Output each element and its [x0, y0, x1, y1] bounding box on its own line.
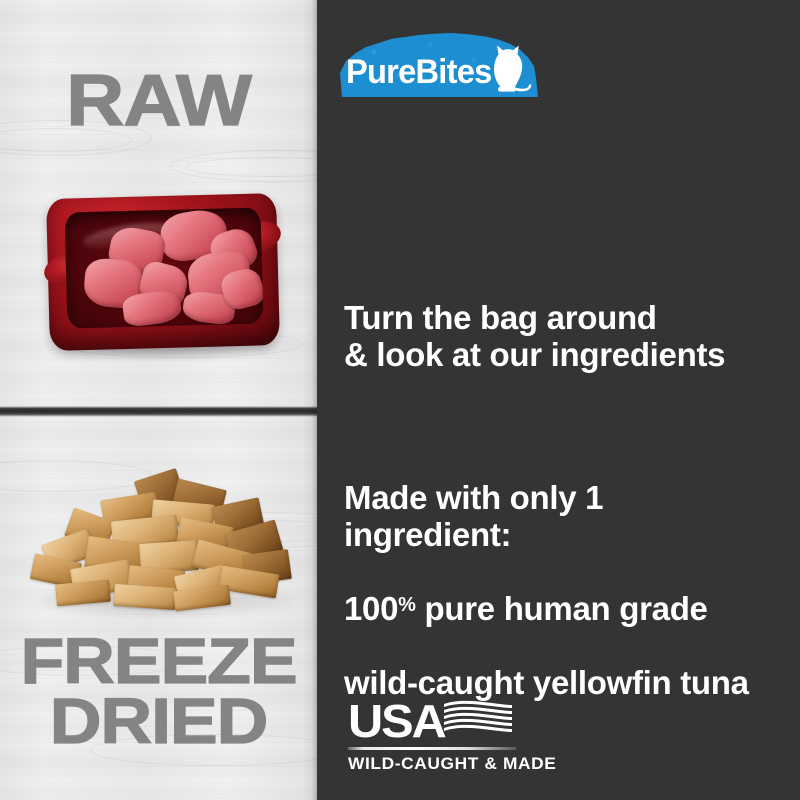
percent-value: 100	[344, 590, 398, 627]
raw-label: RAW	[0, 68, 336, 135]
product-infographic: RAW	[0, 0, 800, 800]
usa-title: USA	[348, 698, 445, 744]
usa-badge: USA WILD-CAUGHT & MADE	[348, 698, 548, 772]
freeze-label-line2: DRIED	[0, 692, 336, 752]
purebites-logo[interactable]: PureBites	[338, 33, 538, 97]
dish-interior	[65, 207, 264, 328]
percent-sign: %	[398, 594, 415, 616]
american-flag-icon	[442, 700, 514, 738]
freeze-dried-label: FREEZE DRIED	[0, 632, 336, 751]
raw-tuna-dish-image	[38, 186, 288, 371]
plank-divider	[0, 406, 317, 417]
headline-ingredient-line2: 100% pure human grade	[344, 591, 774, 628]
usa-divider-rule	[348, 747, 516, 750]
logo-wordmark: PureBites	[346, 53, 491, 92]
freeze-dried-chunk	[113, 584, 176, 610]
usa-subtitle: WILD-CAUGHT & MADE	[348, 754, 556, 774]
headline-turn-the-bag: Turn the bag around & look at our ingred…	[344, 300, 774, 374]
freeze-dried-chunk	[55, 580, 111, 607]
cat-silhouette-icon	[484, 43, 532, 95]
headline-ingredient-line1: Made with only 1 ingredient:	[344, 480, 774, 554]
headline-ingredient-line2-rest: pure human grade	[416, 590, 708, 627]
freeze-dried-tuna-image	[28, 466, 300, 631]
